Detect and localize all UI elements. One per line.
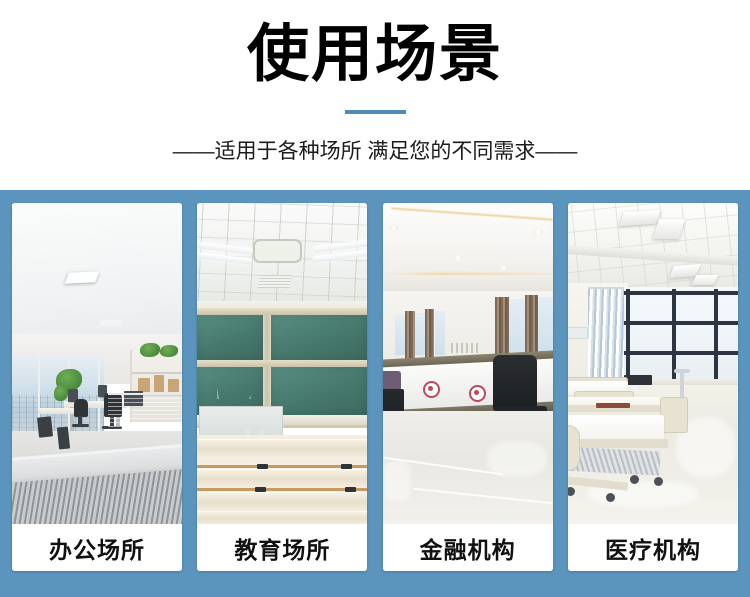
bank-kiosk-top [383, 371, 401, 391]
office-shelf-box [154, 375, 164, 392]
hospital-window-mullion [714, 289, 718, 381]
bank-downlight-icon [499, 265, 508, 270]
bank-curtain [495, 297, 509, 359]
office-shelf-bar [132, 372, 182, 374]
classroom-desk-row [197, 511, 367, 524]
scenario-card-education[interactable]: 教育场所 [197, 203, 367, 571]
office-reception-counter [12, 444, 182, 524]
header-section: 使用场景 ——适用于各种场所 满足您的不同需求—— [0, 0, 750, 190]
bank-floor-reflection [487, 441, 547, 477]
hospital-window-mullion [624, 321, 738, 325]
scenario-label-finance: 金融机构 [383, 524, 553, 571]
classroom-photo [197, 203, 367, 524]
hospital-bed-wheel [654, 477, 663, 486]
usage-scenarios-page: 使用场景 ——适用于各种场所 满足您的不同需求—— [0, 0, 750, 597]
hospital-bed-wheel [606, 493, 615, 502]
bank-curtain [425, 309, 434, 359]
scenario-card-medical[interactable]: 医疗机构 [568, 203, 738, 571]
office-foreground-monitor [37, 416, 53, 437]
hospital-window-mullion [626, 289, 630, 381]
classroom-desk-clip [257, 464, 268, 469]
scenario-band: 办公场所 [0, 190, 750, 597]
classroom-desk-row [197, 439, 367, 460]
classroom-desk-edge [197, 488, 367, 491]
office-shelf-box [138, 378, 150, 392]
scenario-card-finance[interactable]: 金融机构 [383, 203, 553, 571]
title-divider [345, 110, 406, 114]
classroom-desk-row [197, 469, 367, 490]
scenario-label-office: 办公场所 [12, 524, 182, 571]
bank-logo-emblem-icon [423, 381, 440, 398]
office-plant-icon [160, 345, 178, 357]
bank-office-chair [493, 355, 537, 411]
bank-downlight-icon [389, 225, 398, 230]
hospital-bed-side-rail [568, 425, 580, 471]
office-chair-base [72, 424, 89, 427]
classroom-chalkboard [271, 367, 367, 415]
hospital-window-mullion [624, 351, 738, 355]
page-title: 使用场景 [0, 19, 750, 91]
office-ceiling-light-icon [65, 271, 100, 284]
scenario-card-office[interactable]: 办公场所 [12, 203, 182, 571]
office-counter-grille [12, 469, 182, 524]
page-subtitle: ——适用于各种场所 满足您的不同需求—— [0, 138, 750, 166]
office-photo [12, 203, 182, 524]
bank-curtain [405, 311, 415, 359]
hospital-bed-wheel [630, 475, 639, 484]
bank-logo-emblem-icon [469, 385, 486, 402]
classroom-chalkboard [197, 315, 263, 361]
classroom-board-divider [197, 308, 367, 315]
hospital-bed-accent-strip [596, 403, 630, 408]
hospital-ceiling-light-icon [619, 210, 661, 226]
bank-curtain [525, 295, 538, 359]
office-plant-icon [140, 343, 160, 357]
office-shelf-box [168, 379, 179, 392]
scenario-label-medical: 医疗机构 [568, 524, 738, 571]
hospital-wall-fixture [568, 327, 588, 339]
office-chair [74, 399, 88, 417]
classroom-ceiling-vent [253, 239, 302, 263]
bank-downlight-icon [533, 229, 543, 235]
bank-window [509, 299, 525, 357]
office-ceiling-light-secondary-icon [99, 320, 124, 326]
scenario-card-list: 办公场所 [12, 203, 738, 571]
hospital-bed-control-panel [624, 375, 652, 385]
bank-counter-signage [451, 343, 479, 353]
bank-downlight-icon [453, 255, 463, 261]
classroom-chalk-writing [217, 371, 251, 399]
hospital-bed-underframe [568, 446, 661, 475]
classroom-chalkboard [271, 315, 367, 361]
scenario-label-education: 教育场所 [197, 524, 367, 571]
classroom-desk-clip [341, 464, 352, 469]
bank-photo [383, 203, 553, 524]
hospital-photo [568, 203, 738, 524]
classroom-board-divider [197, 360, 367, 367]
classroom-desk-clip [345, 487, 356, 492]
hospital-iv-pole-hook [674, 369, 690, 373]
classroom-desk-row [197, 492, 367, 513]
bank-window [538, 297, 553, 357]
hospital-ceiling-light-icon [692, 275, 718, 285]
hospital-bed-footboard [660, 397, 688, 433]
office-foreground-monitor [57, 426, 70, 449]
office-plant-icon [54, 385, 68, 401]
hospital-bed-mattress [568, 415, 664, 441]
classroom-ceiling-diffuser [258, 275, 293, 288]
bank-floor-reflection [383, 461, 411, 501]
classroom-desk-clip [255, 487, 266, 492]
bank-window [435, 311, 445, 355]
hospital-window-mullion [672, 289, 676, 381]
hospital-window-mullion [624, 291, 738, 295]
